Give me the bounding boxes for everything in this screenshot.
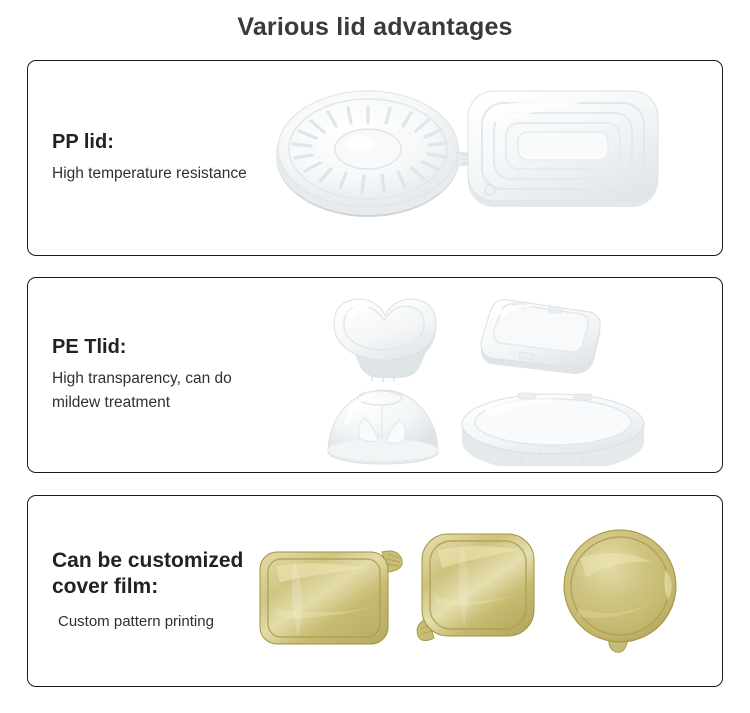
pe-square-lid-image bbox=[470, 286, 610, 391]
card-pp-artwork bbox=[278, 61, 722, 255]
page-title: Various lid advantages bbox=[0, 0, 750, 42]
pp-round-vented-lid-image bbox=[272, 77, 472, 227]
gold-foil-square-lid-image bbox=[410, 526, 550, 656]
card-pe-artwork bbox=[278, 278, 722, 472]
gold-foil-round-lid-image bbox=[554, 526, 694, 658]
card-pp-lid: PP lid: High temperature resistance bbox=[27, 60, 723, 256]
card-pp-heading: PP lid: bbox=[52, 130, 278, 154]
card-pp-subtitle: High temperature resistance bbox=[52, 162, 278, 186]
card-cover-film-text: Can be customized cover film: Custom pat… bbox=[28, 548, 278, 633]
card-cover-film-subtitle: Custom pattern printing bbox=[52, 610, 278, 633]
card-pe-heading: PE Tlid: bbox=[52, 335, 278, 359]
card-pp-text: PP lid: High temperature resistance bbox=[28, 130, 278, 185]
card-pe-subtitle: High transparency, can do mildew treatme… bbox=[52, 367, 278, 415]
gold-foil-rectangular-lid-image bbox=[254, 534, 419, 654]
pe-heart-shaped-lid-image bbox=[320, 288, 450, 388]
pe-dome-lid-image bbox=[320, 378, 448, 470]
card-cover-film: Can be customized cover film: Custom pat… bbox=[27, 495, 723, 687]
pe-oval-lid-image bbox=[458, 388, 648, 466]
pp-rectangular-lid-image bbox=[456, 73, 671, 223]
card-cover-film-heading: Can be customized cover film: bbox=[52, 548, 278, 599]
card-pe-text: PE Tlid: High transparency, can do milde… bbox=[28, 335, 278, 414]
card-pe-lid: PE Tlid: High transparency, can do milde… bbox=[27, 277, 723, 473]
lid-advantage-card-list: PP lid: High temperature resistance bbox=[27, 60, 723, 687]
card-cover-film-artwork bbox=[278, 496, 722, 686]
